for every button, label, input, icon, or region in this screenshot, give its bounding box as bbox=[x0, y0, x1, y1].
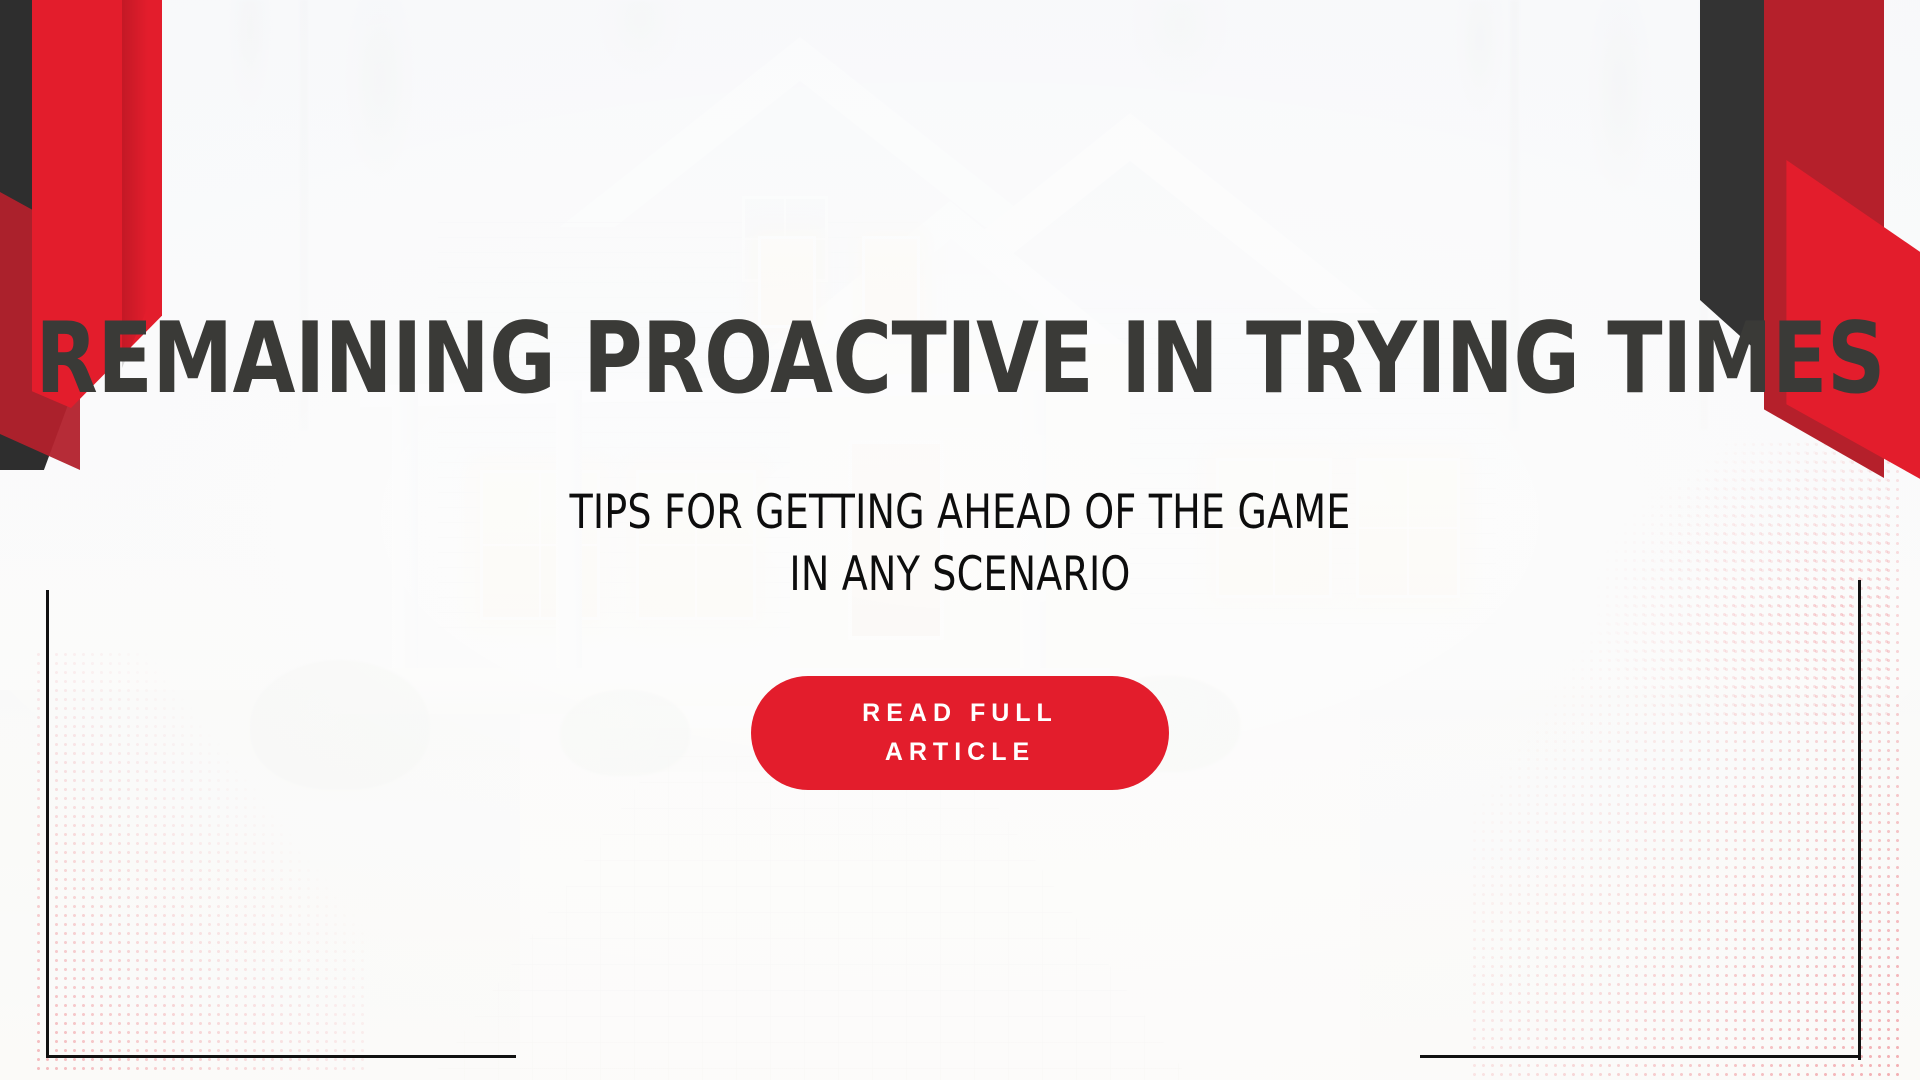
cta-container: READ FULL ARTICLE bbox=[751, 676, 1169, 790]
page-title: REMAINING PROACTIVE IN TRYING TIMES bbox=[35, 310, 1885, 408]
read-full-article-button[interactable]: READ FULL ARTICLE bbox=[751, 676, 1169, 790]
banner-content: REMAINING PROACTIVE IN TRYING TIMES TIPS… bbox=[0, 0, 1920, 1080]
page-subtitle: TIPS FOR GETTING AHEAD OF THE GAME IN AN… bbox=[555, 482, 1365, 606]
hero-banner: REMAINING PROACTIVE IN TRYING TIMES TIPS… bbox=[0, 0, 1920, 1080]
